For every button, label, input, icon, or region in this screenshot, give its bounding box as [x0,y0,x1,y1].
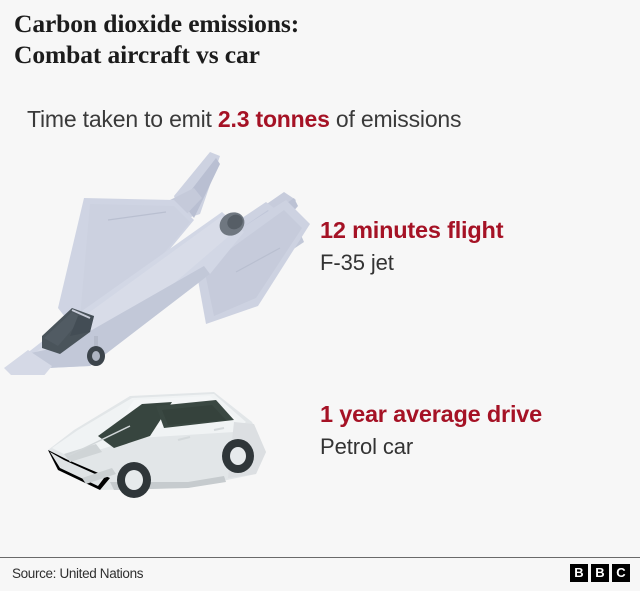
subtitle: Time taken to emit 2.3 tonnes of emissio… [27,106,461,133]
bbc-logo-letter-3: C [612,564,630,582]
car-headline: 1 year average drive [320,400,542,428]
page-title: Carbon dioxide emissions: Combat aircraf… [14,8,514,70]
footer-divider [0,557,640,558]
subtitle-highlight: 2.3 tonnes [218,106,330,132]
car-label-group: 1 year average drive Petrol car [320,400,542,462]
subtitle-prefix: Time taken to emit [27,106,218,132]
jet-label-group: 12 minutes flight F-35 jet [320,216,503,278]
fighter-jet-icon [0,140,318,380]
source-text: Source: United Nations [12,566,143,581]
car-icon [38,378,308,518]
jet-subject: F-35 jet [320,248,503,278]
bbc-logo: B B C [570,564,630,582]
subtitle-suffix: of emissions [330,106,462,132]
title-line-1: Carbon dioxide emissions: [14,9,299,38]
title-line-2: Combat aircraft vs car [14,40,260,69]
car-subject: Petrol car [320,432,542,462]
infographic-container: Carbon dioxide emissions: Combat aircraf… [0,0,640,591]
jet-headline: 12 minutes flight [320,216,503,244]
bbc-logo-letter-2: B [591,564,609,582]
bbc-logo-letter-1: B [570,564,588,582]
